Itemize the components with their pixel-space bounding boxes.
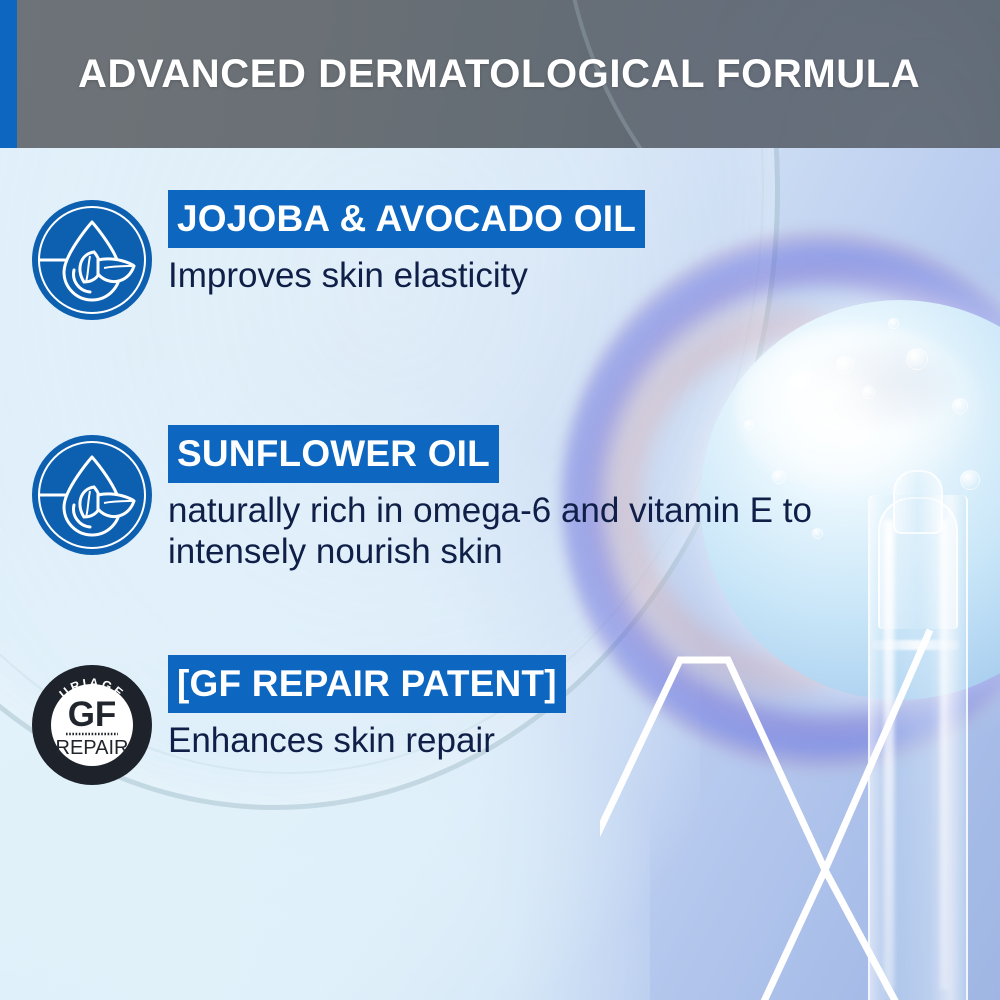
feature-icon-slot bbox=[24, 190, 160, 324]
feature-text-block: SUNFLOWER OIL naturally rich in omega-6 … bbox=[160, 425, 812, 573]
infographic-canvas: ADVANCED DERMATOLOGICAL FORMULA JOJOBA &… bbox=[0, 0, 1000, 1000]
feature-description-line: intensely nourish skin bbox=[168, 532, 812, 573]
bubble bbox=[906, 348, 928, 370]
feature-heading: [GF REPAIR PATENT] bbox=[168, 655, 566, 713]
gf-repair-badge-icon: URIAGE BREVET • PATENT GF REPAIR bbox=[28, 661, 156, 789]
feature-heading: JOJOBA & AVOCADO OIL bbox=[168, 190, 645, 248]
feature-description: Enhances skin repair bbox=[168, 721, 566, 762]
bubble bbox=[960, 470, 980, 490]
bubble bbox=[788, 372, 816, 400]
feature-row-jojoba-avocado-oil: JOJOBA & AVOCADO OIL Improves skin elast… bbox=[24, 190, 645, 324]
feature-description: naturally rich in omega-6 and vitamin E … bbox=[168, 491, 812, 573]
feature-description-line: naturally rich in omega-6 and vitamin E … bbox=[168, 491, 812, 532]
brand-line-watermark bbox=[600, 620, 1000, 1000]
droplet-leaf-icon bbox=[28, 431, 156, 559]
bubble bbox=[952, 398, 968, 414]
page-title: ADVANCED DERMATOLOGICAL FORMULA bbox=[78, 0, 920, 148]
feature-row-sunflower-oil: SUNFLOWER OIL naturally rich in omega-6 … bbox=[24, 425, 812, 573]
bubble bbox=[812, 528, 823, 539]
bubble bbox=[888, 318, 899, 329]
header-banner: ADVANCED DERMATOLOGICAL FORMULA bbox=[0, 0, 1000, 148]
feature-description-line: Enhances skin repair bbox=[168, 721, 566, 762]
feature-description: Improves skin elasticity bbox=[168, 256, 645, 297]
feature-row-gf-repair-patent: URIAGE BREVET • PATENT GF REPAIR [GF REP… bbox=[24, 655, 566, 789]
feature-icon-slot: URIAGE BREVET • PATENT GF REPAIR bbox=[24, 655, 160, 789]
feature-heading: SUNFLOWER OIL bbox=[168, 425, 499, 483]
bubble bbox=[836, 356, 854, 374]
feature-icon-slot bbox=[24, 425, 160, 559]
droplet-leaf-icon bbox=[28, 196, 156, 324]
feature-text-block: [GF REPAIR PATENT] Enhances skin repair bbox=[160, 655, 566, 762]
feature-description-line: Improves skin elasticity bbox=[168, 256, 645, 297]
header-accent-bar bbox=[0, 0, 17, 148]
badge-main-text: GF bbox=[68, 695, 117, 734]
feature-text-block: JOJOBA & AVOCADO OIL Improves skin elast… bbox=[160, 190, 645, 297]
ampoule-tip bbox=[893, 470, 943, 534]
bubble bbox=[862, 386, 875, 399]
badge-sub-text: REPAIR bbox=[56, 737, 129, 759]
